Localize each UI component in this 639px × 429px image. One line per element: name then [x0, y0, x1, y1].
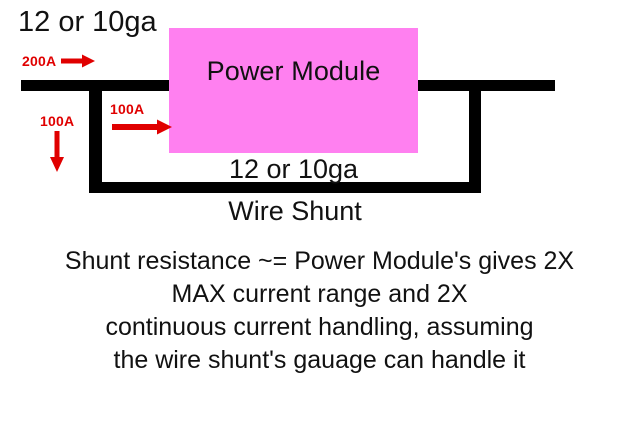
explanation-line-2: MAX current range and 2X — [0, 278, 639, 311]
current-annotation-total-input: 200A — [22, 53, 97, 69]
wire-shunt-diagram: Power Module 12 or 10ga 12 or 10ga Wire … — [0, 0, 639, 429]
wire-shunt-left-vertical — [89, 80, 102, 193]
wire-top-right-segment — [418, 80, 555, 91]
current-value-100a-shunt: 100A — [40, 113, 74, 129]
label-gauge-bottom: 12 or 10ga — [169, 154, 418, 185]
power-module-block: Power Module — [169, 28, 418, 153]
explanation-line-4: the wire shunt's gauage can handle it — [0, 344, 639, 377]
wire-shunt-right-vertical — [469, 80, 481, 193]
explanation-line-1: Shunt resistance ~= Power Module's gives… — [0, 245, 639, 278]
power-module-label: Power Module — [169, 56, 418, 87]
arrow-down-icon — [48, 131, 66, 173]
arrow-right-icon — [61, 53, 97, 69]
label-gauge-top: 12 or 10ga — [18, 6, 157, 39]
current-annotation-module-branch: 100A — [110, 101, 174, 136]
explanation-line-3: continuous current handling, assuming — [0, 311, 639, 344]
arrow-right-icon — [112, 118, 174, 136]
explanation-text: Shunt resistance ~= Power Module's gives… — [0, 245, 639, 377]
current-annotation-shunt-branch: 100A — [40, 113, 74, 173]
current-value-100a-module: 100A — [110, 101, 144, 117]
current-value-200a: 200A — [22, 53, 56, 69]
label-wire-shunt: Wire Shunt — [130, 196, 460, 227]
